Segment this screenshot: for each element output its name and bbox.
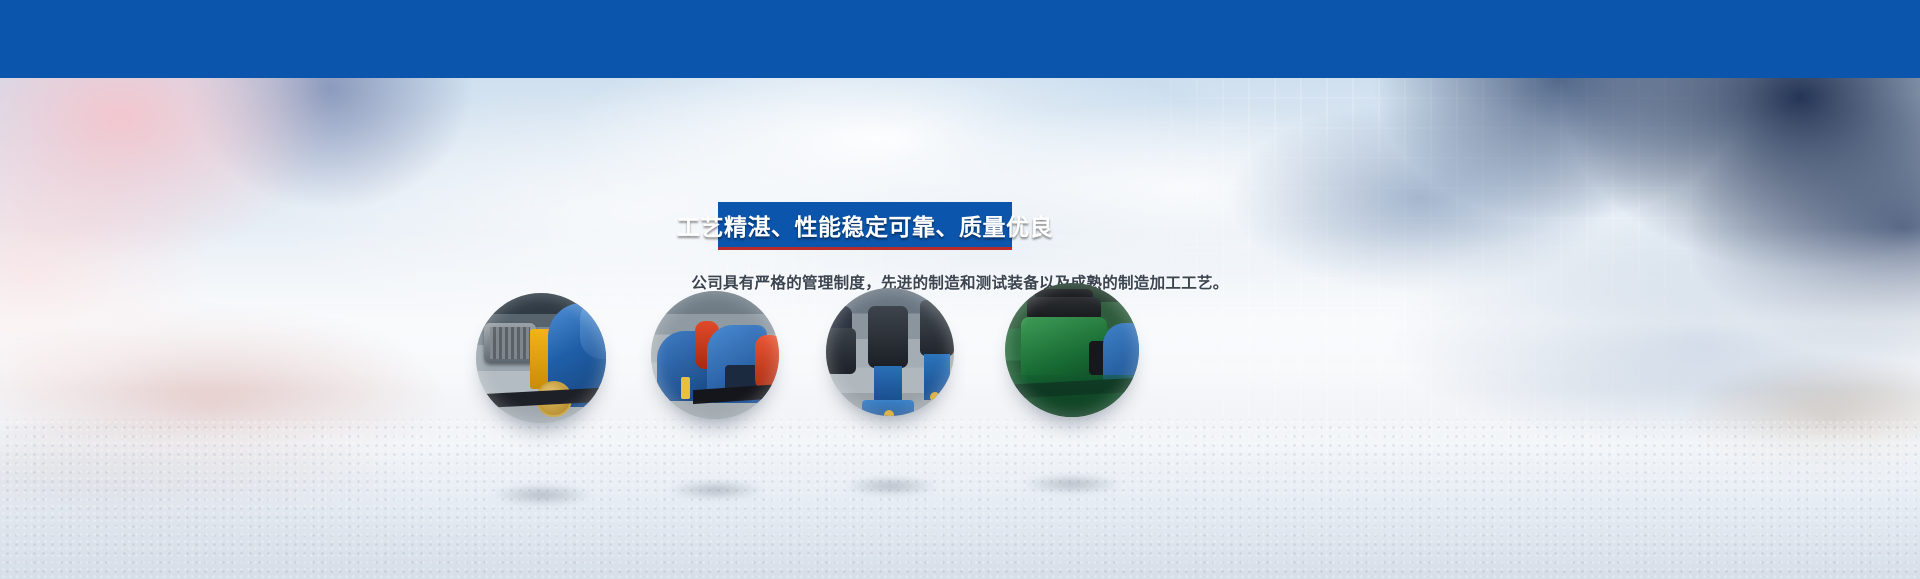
- product-photo-3[interactable]: [826, 288, 954, 416]
- hero-background: 工艺精湛、性能稳定可靠、质量优良 公司具有严格的管理制度，先进的制造和测试装备以…: [0, 78, 1920, 579]
- pump-flange-tag: [884, 410, 894, 416]
- red-motor-2: [755, 335, 779, 391]
- circle-1-shadow: [492, 484, 592, 506]
- pump-flange-tag-2: [930, 392, 940, 402]
- circle-3-shadow: [844, 476, 938, 496]
- hero-banner-page: 工艺精湛、性能稳定可靠、质量优良 公司具有严格的管理制度，先进的制造和测试装备以…: [0, 0, 1920, 579]
- circle-4-shadow: [1022, 474, 1122, 494]
- floor-reflection: [1005, 375, 1139, 417]
- top-navigation-bar[interactable]: [0, 0, 1920, 78]
- product-photo-1[interactable]: [476, 293, 606, 423]
- inline-pump-3: [826, 328, 856, 374]
- pump-motor: [484, 323, 536, 363]
- circle-2-shadow: [668, 480, 764, 500]
- product-photo-2[interactable]: [651, 291, 779, 419]
- product-photo-gallery: [0, 78, 1920, 579]
- product-photo-4[interactable]: [1005, 283, 1139, 417]
- pump-casing-upper: [580, 297, 606, 359]
- yellow-tag: [681, 377, 690, 399]
- inline-pump-motor-2: [920, 300, 954, 356]
- inline-pump-motor-1: [868, 306, 908, 368]
